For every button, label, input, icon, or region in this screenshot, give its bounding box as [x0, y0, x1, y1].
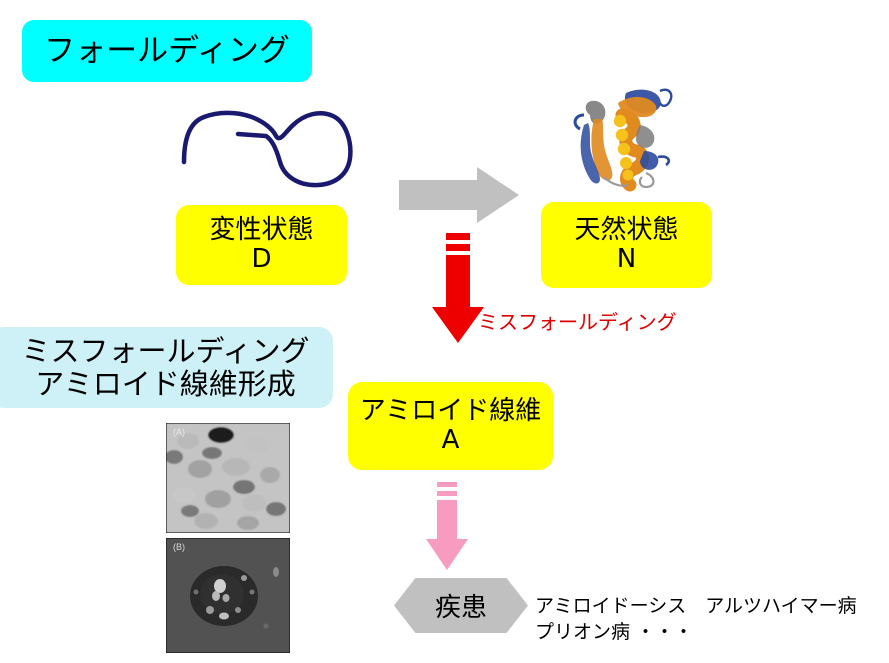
heading-folding: フォールディング — [22, 20, 312, 82]
heading-folding-label: フォールディング — [44, 34, 290, 69]
disease-examples-line1: アミロイドーシス アルツハイマー病 — [535, 594, 857, 620]
down-arrow-icon-disease — [423, 482, 473, 572]
disease-examples-line2: プリオン病 ・・・ — [535, 620, 857, 646]
right-arrow-icon — [399, 167, 519, 223]
electron-micrograph-b: (B) — [166, 538, 290, 653]
arrow-label-misfolding: ミスフォールディング — [478, 306, 677, 335]
state-box-denatured: 変性状態 D — [176, 205, 347, 285]
heading-misfolding-line1: ミスフォールディング — [22, 335, 310, 367]
state-amyloid-symbol: A — [442, 426, 460, 455]
unfolded-protein-chain-icon — [170, 100, 400, 190]
heading-misfolding-section: ミスフォールディング アミロイド線維形成 — [0, 327, 333, 408]
state-amyloid-name: アミロイド線維 — [360, 397, 541, 426]
state-denatured-symbol: D — [251, 245, 271, 274]
slide-canvas: フォールディング 変性状態 D — [0, 0, 889, 663]
disease-badge-label: 疾患 — [394, 578, 528, 633]
micrograph-b-label: (B) — [173, 542, 185, 552]
state-native-name: 天然状態 — [574, 216, 678, 245]
state-box-native: 天然状態 N — [541, 202, 712, 288]
heading-misfolding-line2: アミロイド線維形成 — [35, 368, 295, 400]
state-native-symbol: N — [617, 245, 636, 274]
disease-examples-list: アミロイドーシス アルツハイマー病 プリオン病 ・・・ — [535, 594, 857, 645]
micrograph-a-label: (A) — [173, 427, 185, 437]
protein-ribbon-icon — [560, 85, 680, 195]
status-badge-disease: 疾患 — [394, 578, 528, 633]
state-box-amyloid: アミロイド線維 A — [348, 382, 553, 470]
electron-micrograph-a: (A) — [166, 423, 290, 533]
state-denatured-name: 変性状態 — [209, 216, 313, 245]
